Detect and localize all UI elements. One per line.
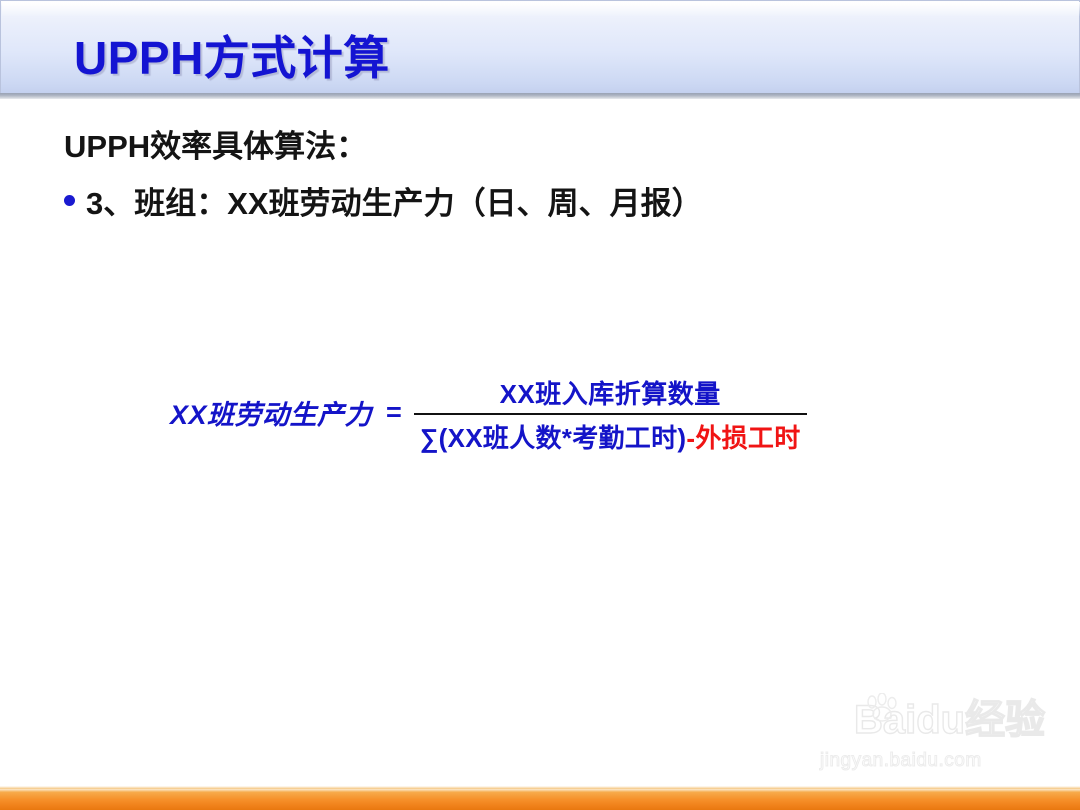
watermark-logo-row: Baidu经验 bbox=[820, 700, 1060, 740]
formula-fraction: XX班入库折算数量 ∑(XX班人数*考勤工时)-外损工时 bbox=[414, 374, 807, 455]
formula-left-side: XX班劳动生产力 bbox=[170, 393, 372, 432]
baidu-jingyan-watermark: Baidu经验 jingyan.baidu.com bbox=[820, 700, 1060, 772]
header-shadow-divider bbox=[0, 93, 1080, 99]
formula-denominator-subtract-term: -外损工时 bbox=[686, 423, 800, 453]
watermark-url-text: jingyan.baidu.com bbox=[820, 750, 1060, 772]
watermark-suffix-text: 经验 bbox=[965, 700, 1045, 740]
body-heading: UPPH效率具体算法： bbox=[64, 121, 367, 166]
formula-numerator: XX班入库折算数量 bbox=[414, 374, 807, 413]
page-title: UPPH方式计算 bbox=[74, 22, 390, 88]
formula-block: XX班劳动生产力 = XX班入库折算数量 ∑(XX班人数*考勤工时)-外损工时 bbox=[170, 372, 807, 453]
baidu-paw-icon bbox=[864, 693, 900, 723]
formula-equals-sign: = bbox=[386, 397, 402, 428]
bottom-accent-bar-highlight bbox=[0, 789, 1080, 792]
header-gloss-overlay bbox=[2, 2, 1080, 16]
watermark-brand-text: Baidu bbox=[854, 700, 965, 740]
slide-canvas: UPPH方式计算 UPPH效率具体算法： 3、班组：XX班劳动生产力（日、周、月… bbox=[0, 0, 1080, 810]
formula-denominator: ∑(XX班人数*考勤工时)-外损工时 bbox=[414, 415, 807, 455]
formula-denominator-sum-term: ∑(XX班人数*考勤工时) bbox=[420, 423, 687, 453]
bullet-dot-icon bbox=[64, 195, 75, 206]
bullet-list-item: 3、班组：XX班劳动生产力（日、周、月报） bbox=[64, 178, 703, 223]
bullet-item-label: 3、班组：XX班劳动生产力（日、周、月报） bbox=[86, 178, 703, 223]
